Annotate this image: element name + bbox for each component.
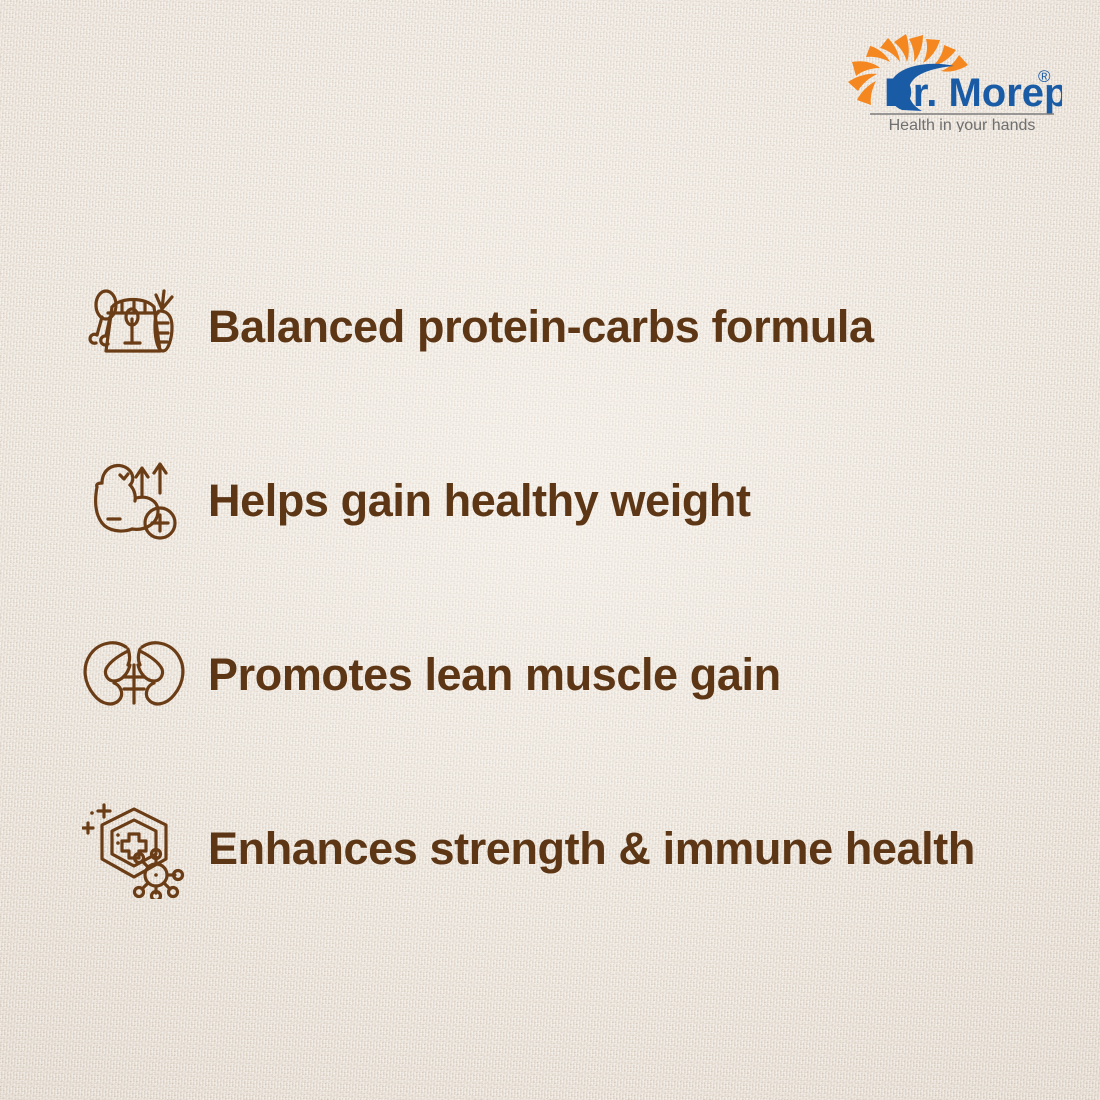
muscular-torso-icon [78, 623, 190, 727]
immune-shield-icon [78, 797, 190, 901]
poster-canvas: Dr. Morepen ® Health in your hands [0, 0, 1100, 1100]
feature-item: Balanced protein-carbs formula [78, 268, 1058, 386]
feature-item: Helps gain healthy weight [78, 442, 1058, 560]
feature-label: Balanced protein-carbs formula [208, 301, 874, 353]
feature-item: Promotes lean muscle gain [78, 616, 1058, 734]
registered-mark: ® [1038, 67, 1051, 86]
feature-label: Helps gain healthy weight [208, 475, 751, 527]
flexed-bicep-growth-icon [78, 449, 190, 553]
protein-food-icon [78, 275, 190, 379]
brand-name: Dr. Morepen [884, 71, 1062, 115]
feature-item: Enhances strength & immune health [78, 790, 1058, 908]
brand-tagline: Health in your hands [889, 117, 1036, 132]
brand-logo: Dr. Morepen ® Health in your hands [826, 24, 1062, 132]
feature-label: Enhances strength & immune health [208, 823, 975, 875]
feature-list: Balanced protein-carbs formula [78, 268, 1058, 908]
feature-label: Promotes lean muscle gain [208, 649, 781, 701]
